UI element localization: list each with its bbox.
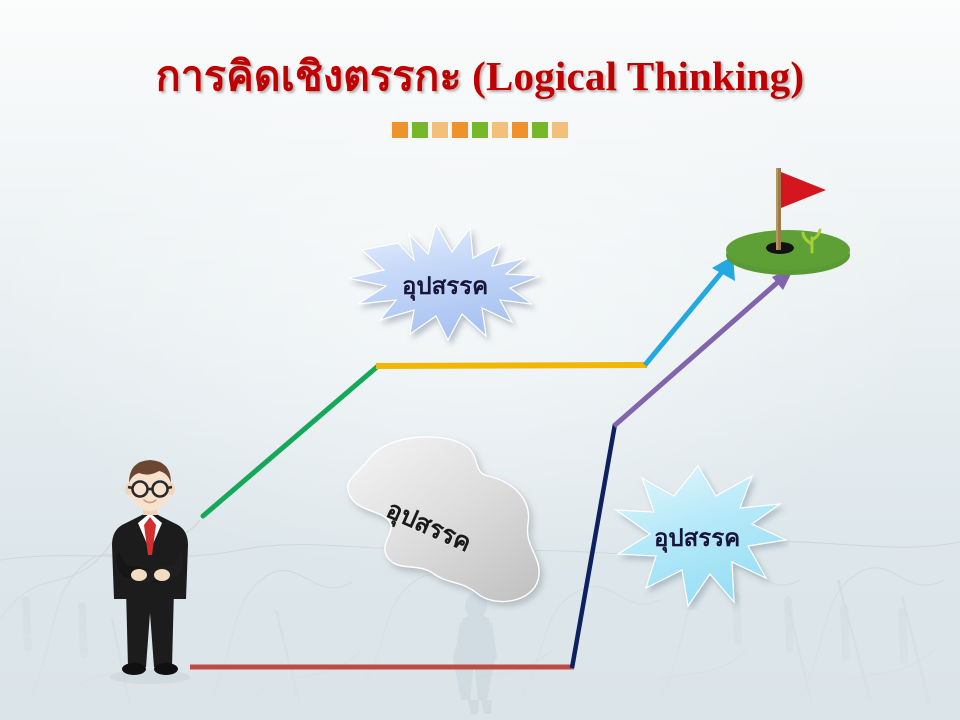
obstacle-label-right: อุปสรรค [654, 518, 740, 557]
golf-flag-goal [716, 160, 856, 278]
trousers [126, 589, 174, 667]
route-navy-rise [572, 424, 615, 668]
character-shadow [110, 670, 190, 684]
hand-right [154, 569, 170, 581]
obstacle-label-top: อุปสรรค [402, 266, 488, 305]
businessman-character [96, 455, 204, 687]
shoe-left [122, 663, 146, 675]
hand-left [131, 569, 147, 581]
obstacle-shape-right: อุปสรรค [612, 462, 790, 610]
shoe-right [154, 663, 178, 675]
obstacle-shape-middle: อุปสรรค [338, 432, 558, 610]
red-flag-icon [781, 172, 826, 208]
route-yellow-flat [376, 365, 647, 366]
obstacle-shape-top: อุปสรรค [340, 218, 552, 348]
slide-canvas: การคิดเชิงตรรกะ (Logical Thinking) [0, 0, 960, 720]
